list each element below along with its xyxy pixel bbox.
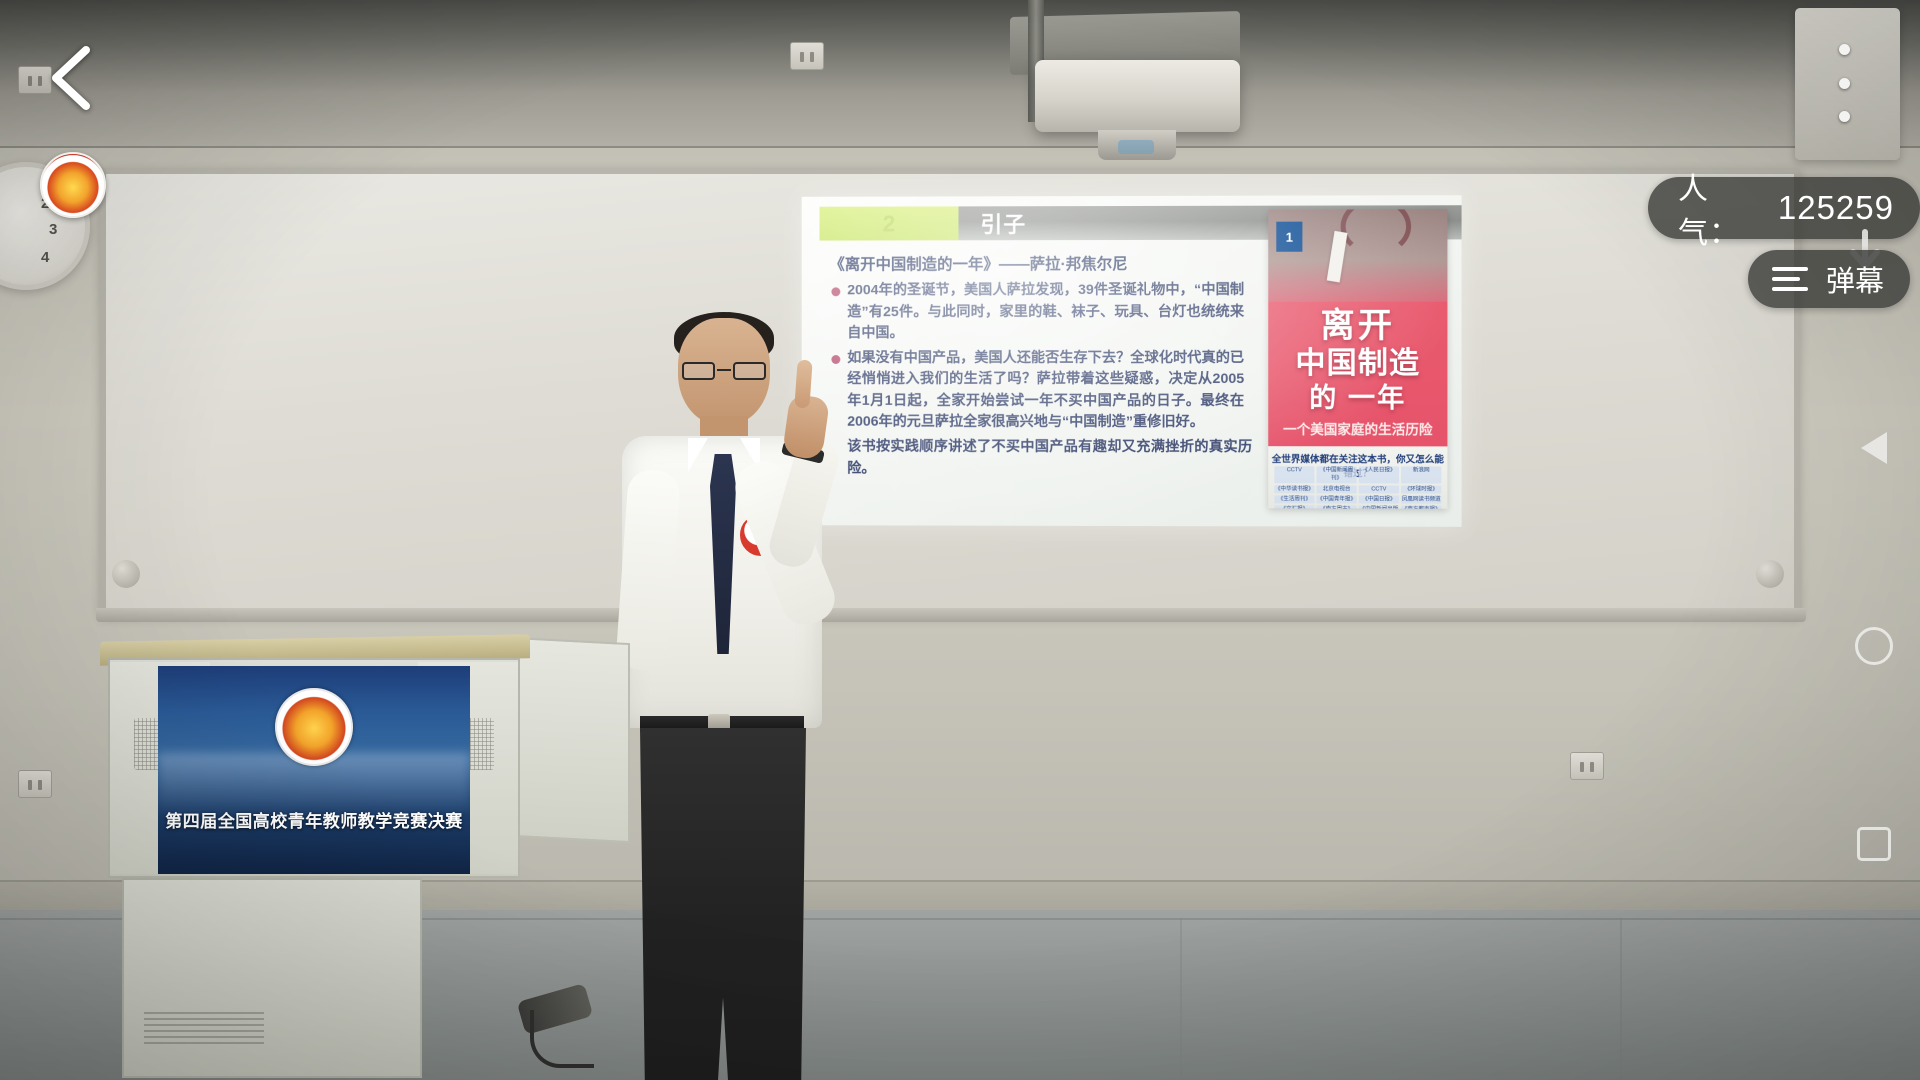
clock-number: 4: [41, 249, 49, 266]
recents-square-icon: [1857, 827, 1891, 861]
book-media-tag: 《中国青年报》: [1316, 495, 1356, 503]
power-socket: [18, 770, 52, 798]
book-media-tag: 《南方都市报》: [1401, 506, 1441, 509]
book-media-tag-grid: CCTV《中国新闻周刊》《人民日报》新浪网《中华读书报》北京电视台CCTV《环球…: [1274, 466, 1441, 508]
live-video-frame[interactable]: 3 2 4 2 引子 《离开中国制造的一年》——萨拉·邦焦尔尼 2004年的圣诞…: [0, 0, 1920, 1080]
book-media-tag: 《中华读书报》: [1274, 485, 1314, 493]
competition-emblem-icon: [275, 688, 353, 766]
book-media-tag: 《中国新闻出版报》: [1359, 505, 1399, 508]
book-media-tag: 《中国新闻周刊》: [1316, 466, 1356, 483]
clock-number: 3: [49, 221, 57, 238]
slide-bullet-text: 2004年的圣诞节，美国人萨拉发现，39件圣诞礼物中，“中国制造”有25件。与此…: [847, 280, 1244, 345]
microphone-cable: [530, 1010, 594, 1068]
presenter-figure: 1: [600, 318, 870, 1043]
danmaku-label: 弹幕: [1826, 258, 1884, 300]
glasses-icon: [680, 362, 768, 380]
home-circle-icon: [1855, 627, 1893, 665]
presenter-trousers: [640, 728, 806, 1080]
book-media-tag: 《南方周末》: [1316, 505, 1356, 508]
projected-slide: 2 引子 《离开中国制造的一年》——萨拉·邦焦尔尼 2004年的圣诞节，美国人萨…: [802, 195, 1462, 527]
danmaku-lines-icon: [1772, 267, 1808, 291]
book-series-badge: 1: [1276, 222, 1302, 252]
book-media-tag: CCTV: [1359, 485, 1399, 493]
book-subtitle: 一个美国家庭的生活历险: [1268, 418, 1447, 438]
power-socket: [790, 42, 824, 70]
power-socket: [1570, 752, 1604, 780]
danmaku-toggle-button[interactable]: 弹幕: [1748, 250, 1910, 308]
book-media-tag: 《中国日报》: [1359, 495, 1399, 503]
lectern-banner-title: 第四届全国高校青年教师教学竞赛决赛: [158, 807, 470, 832]
whiteboard-tray: [96, 608, 1806, 622]
video-player-screen: 3 2 4 2 引子 《离开中国制造的一年》——萨拉·邦焦尔尼 2004年的圣诞…: [0, 0, 1920, 1080]
floor-tile-line: [1180, 918, 1182, 1080]
competition-badge-icon: [40, 152, 106, 218]
book-media-tag: CCTV: [1274, 466, 1314, 483]
book-media-tag: 北京电视台: [1316, 485, 1356, 493]
book-cover-footer: 全世界媒体都在关注这本书，你又怎么能错过？ CCTV《中国新闻周刊》《人民日报》…: [1268, 446, 1447, 509]
ceiling-band: [0, 0, 1920, 150]
lectern-banner: 第四届全国高校青年教师教学竞赛决赛: [158, 666, 470, 874]
bullet-dot-icon: [831, 287, 840, 296]
android-home-button[interactable]: [1848, 620, 1900, 672]
projector-lens: [1118, 140, 1154, 154]
whiteboard-knob: [1756, 560, 1784, 588]
shirt-collar-left: [688, 438, 708, 472]
slide-bullet-text: 如果没有中国产品，美国人还能否生存下去？全球化时代真的已经悄悄进入我们的生活了吗…: [847, 348, 1244, 434]
book-title-line3: 的 一年: [1268, 376, 1447, 415]
book-media-tag: 《环球时报》: [1401, 485, 1441, 493]
popularity-label: 人气：: [1678, 164, 1764, 252]
back-triangle-icon: [1861, 432, 1887, 464]
ceiling-projector: [1035, 60, 1240, 132]
slide-section-number: 2: [820, 206, 959, 240]
back-chevron-icon[interactable]: [42, 42, 106, 114]
book-media-tag: 凤凰网读书频道: [1401, 495, 1441, 503]
more-vertical-icon[interactable]: [1826, 38, 1862, 128]
android-recents-button[interactable]: [1848, 818, 1900, 870]
book-media-tag: 《生活周刊》: [1274, 495, 1314, 503]
book-media-tag: 新浪网: [1401, 466, 1441, 483]
book-media-tag: 《文汇报》: [1274, 505, 1314, 508]
android-back-button[interactable]: [1848, 422, 1900, 474]
lectern-base: [122, 878, 422, 1078]
whiteboard-knob: [112, 560, 140, 588]
floor-tile-line: [1620, 918, 1622, 1080]
lectern: 第四届全国高校青年教师教学竞赛决赛: [100, 638, 530, 1078]
popularity-value: 125259: [1778, 189, 1894, 227]
lectern-vent: [144, 1010, 264, 1044]
slide-note-text: 该书按实践顺序讲述了不买中国产品有趣却又充满挫折的真实历险。: [847, 437, 1252, 481]
book-cover-image: 1 离开 中国制造 的 一年 一个美国家庭的生活历险 全世界媒体都在关注这本书，…: [1268, 209, 1447, 508]
book-media-tag: 《人民日报》: [1359, 466, 1399, 483]
